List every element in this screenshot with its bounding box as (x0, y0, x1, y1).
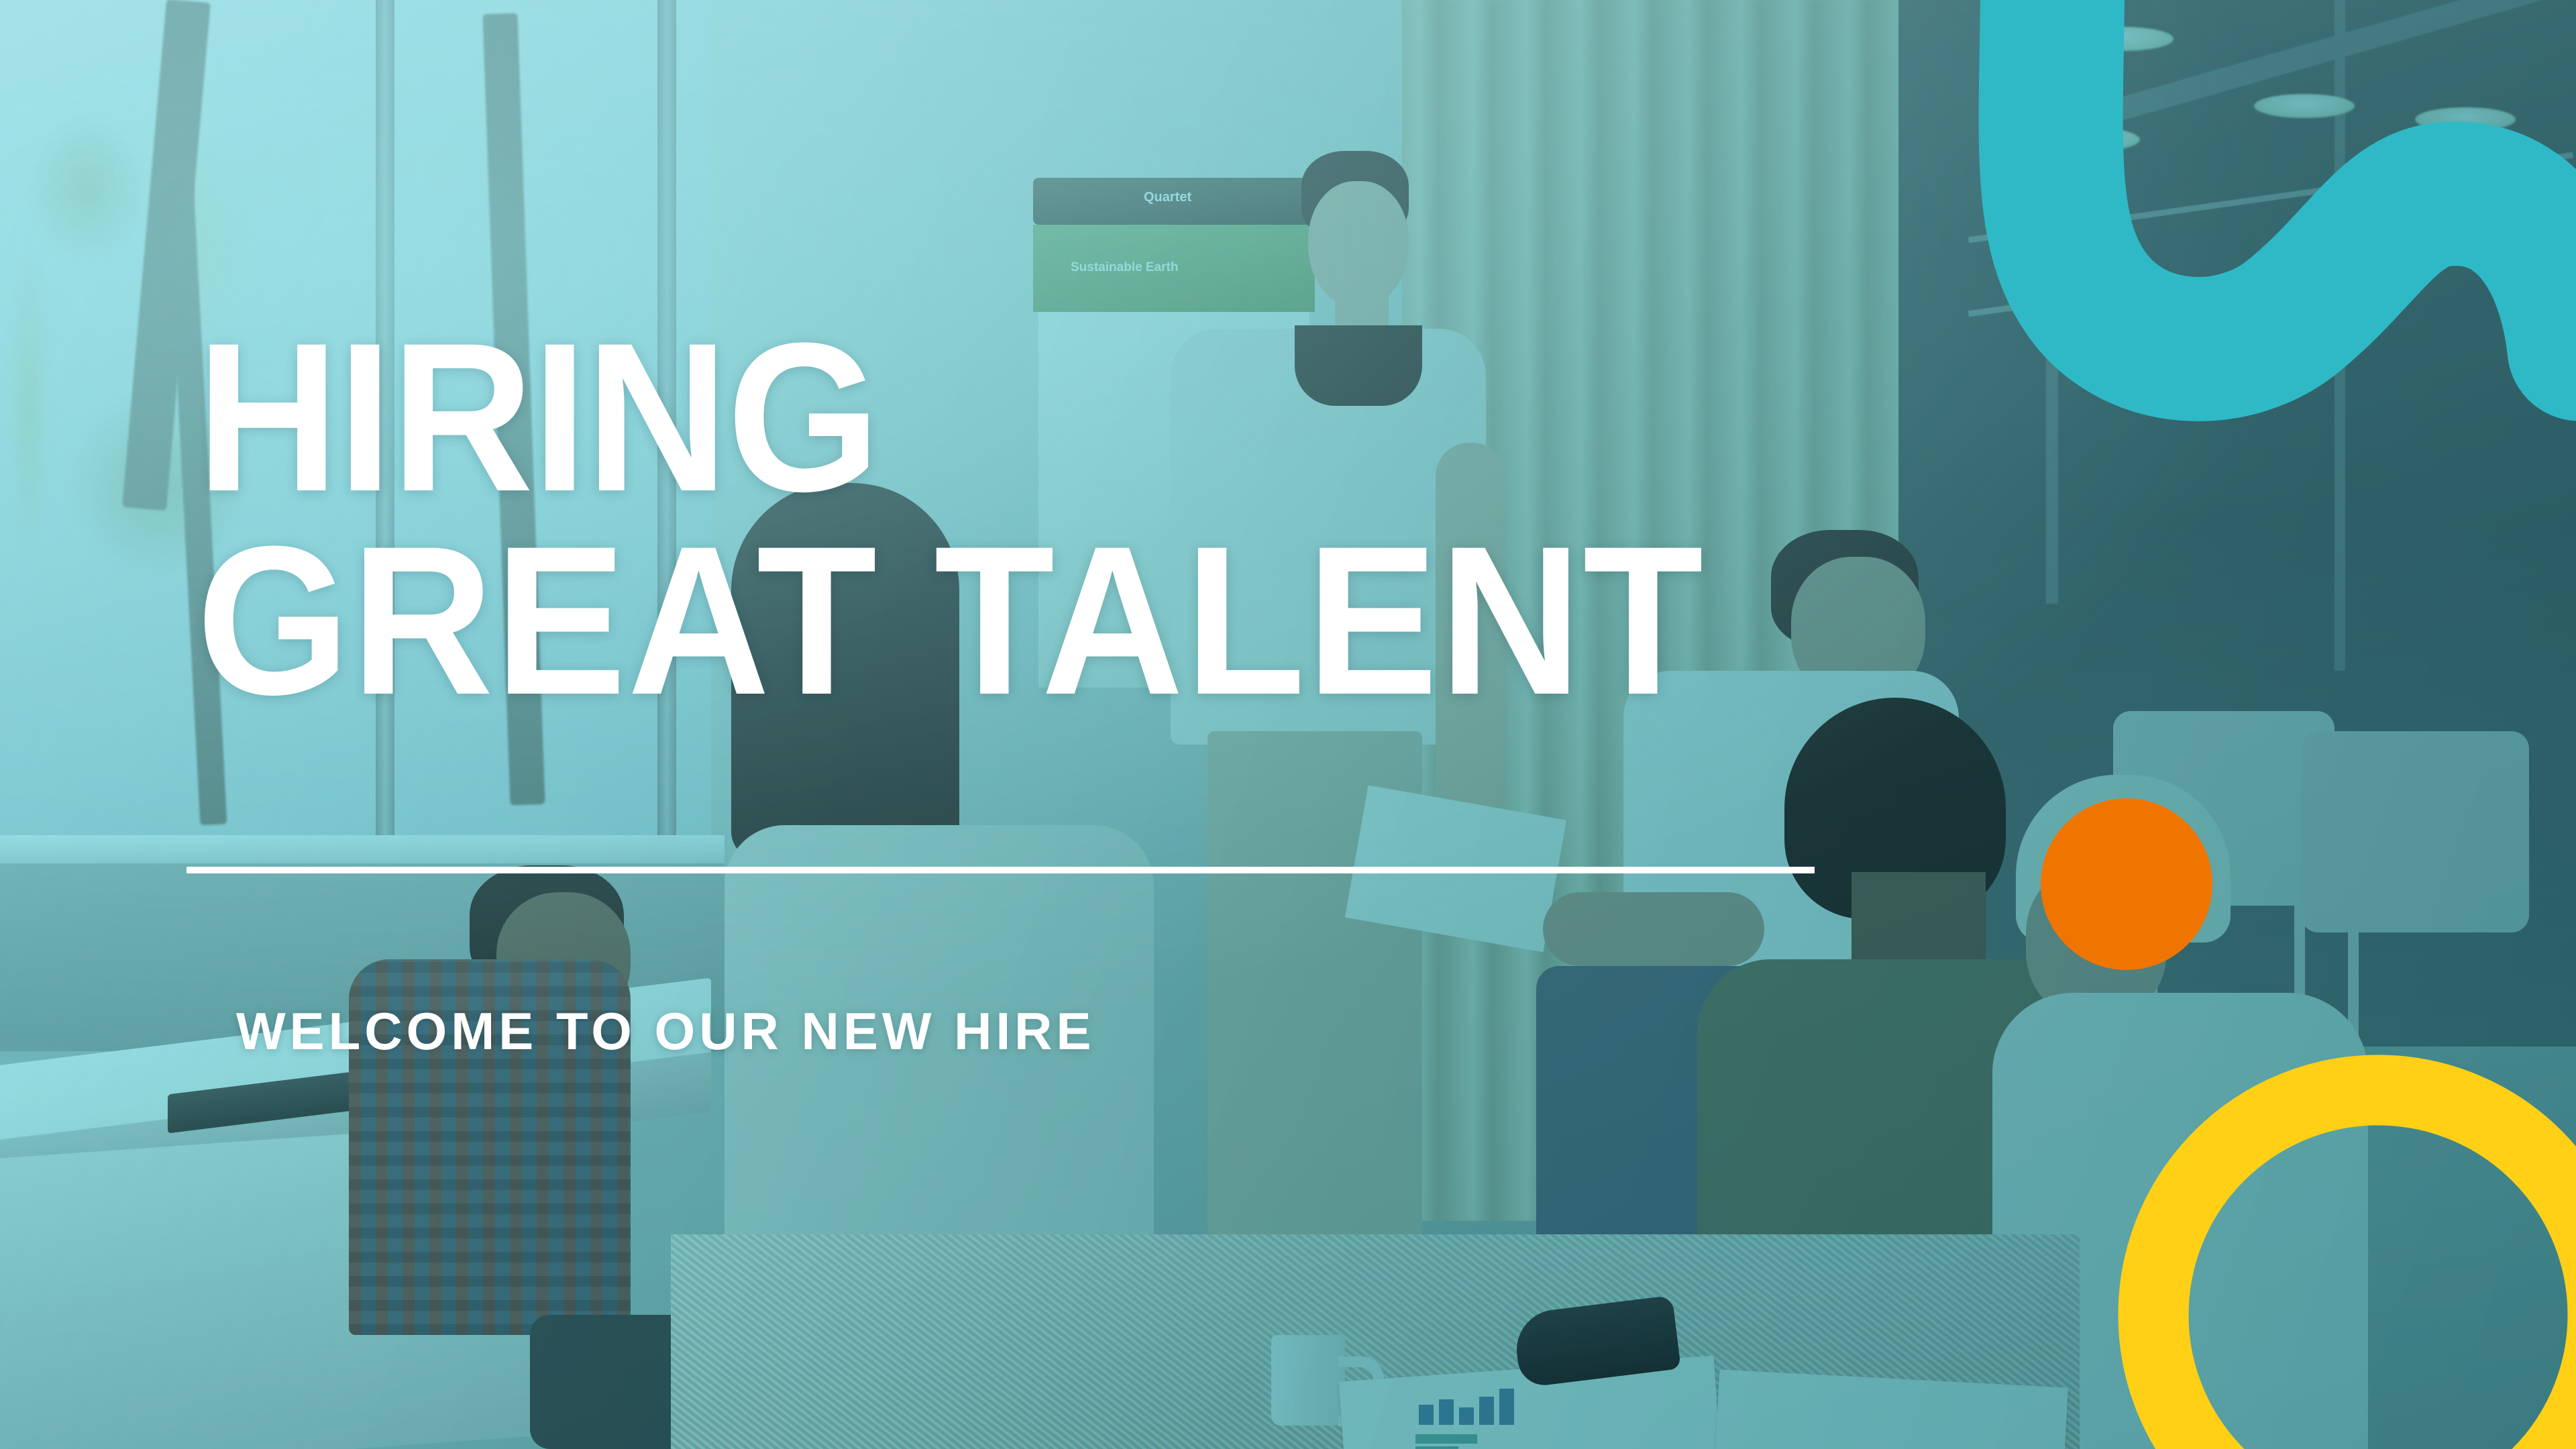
headline-line-1: HIRING (197, 315, 1819, 519)
headline-block: HIRING GREAT TALENT (197, 315, 1941, 722)
subheadline: WELCOME TO OUR NEW HIRE (236, 1005, 1095, 1057)
hiring-banner: Quartet Sustainable Earth (0, 0, 2576, 1449)
headline-line-2: GREAT TALENT (197, 519, 1819, 722)
divider-rule (186, 867, 1815, 873)
